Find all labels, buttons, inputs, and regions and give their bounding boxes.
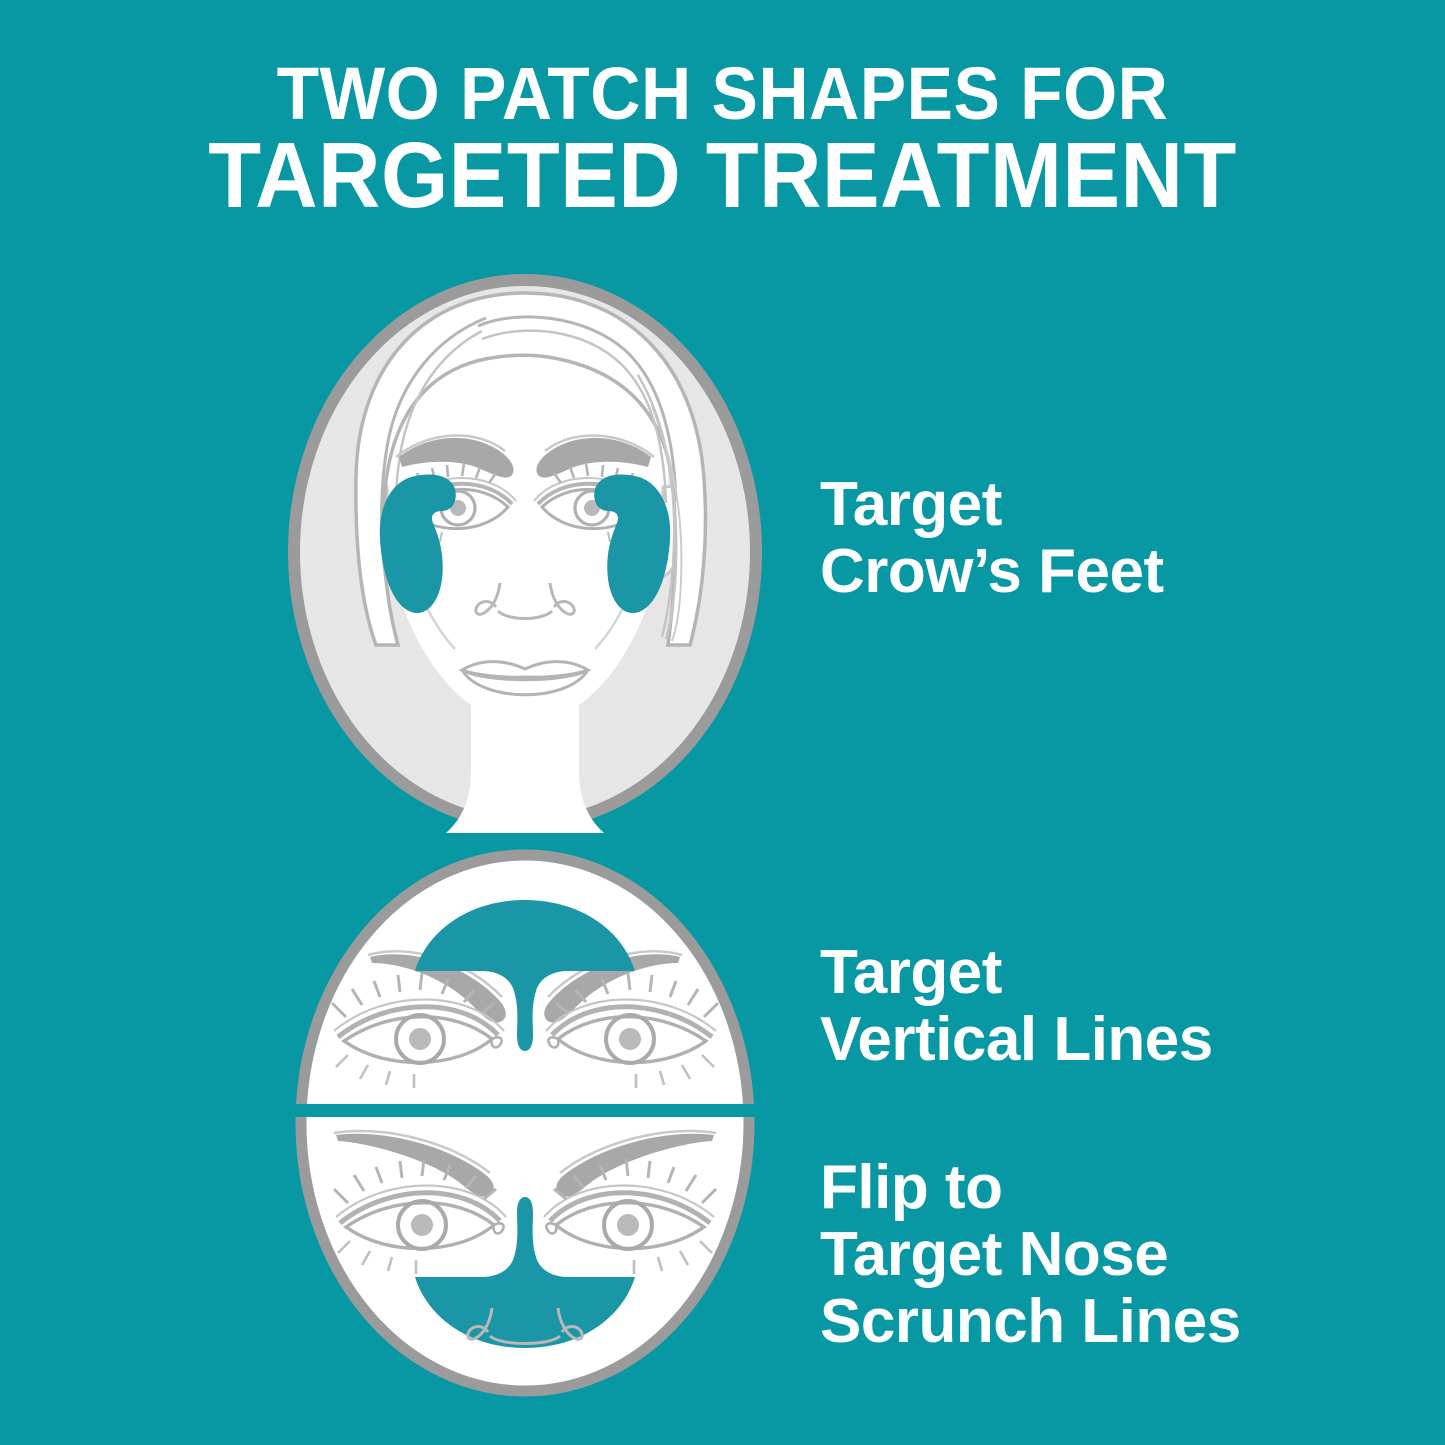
page-title: TWO PATCH SHAPES FOR TARGETED TREATMENT bbox=[0, 58, 1445, 220]
poster-canvas: TWO PATCH SHAPES FOR TARGETED TREATMENT bbox=[0, 0, 1445, 1445]
caption-vertical-lines: Target Vertical Lines bbox=[820, 940, 1213, 1074]
divider-line bbox=[286, 1104, 764, 1117]
title-line-1: TWO PATCH SHAPES FOR bbox=[43, 58, 1401, 129]
title-line-2: TARGETED TREATMENT bbox=[51, 131, 1395, 220]
caption-crows-feet: Target Crow’s Feet bbox=[820, 472, 1164, 606]
figure-forehead-nose bbox=[286, 845, 764, 1401]
figure-crows-feet bbox=[286, 271, 764, 833]
caption-nose-scrunch: Flip to Target Nose Scrunch Lines bbox=[820, 1155, 1241, 1356]
